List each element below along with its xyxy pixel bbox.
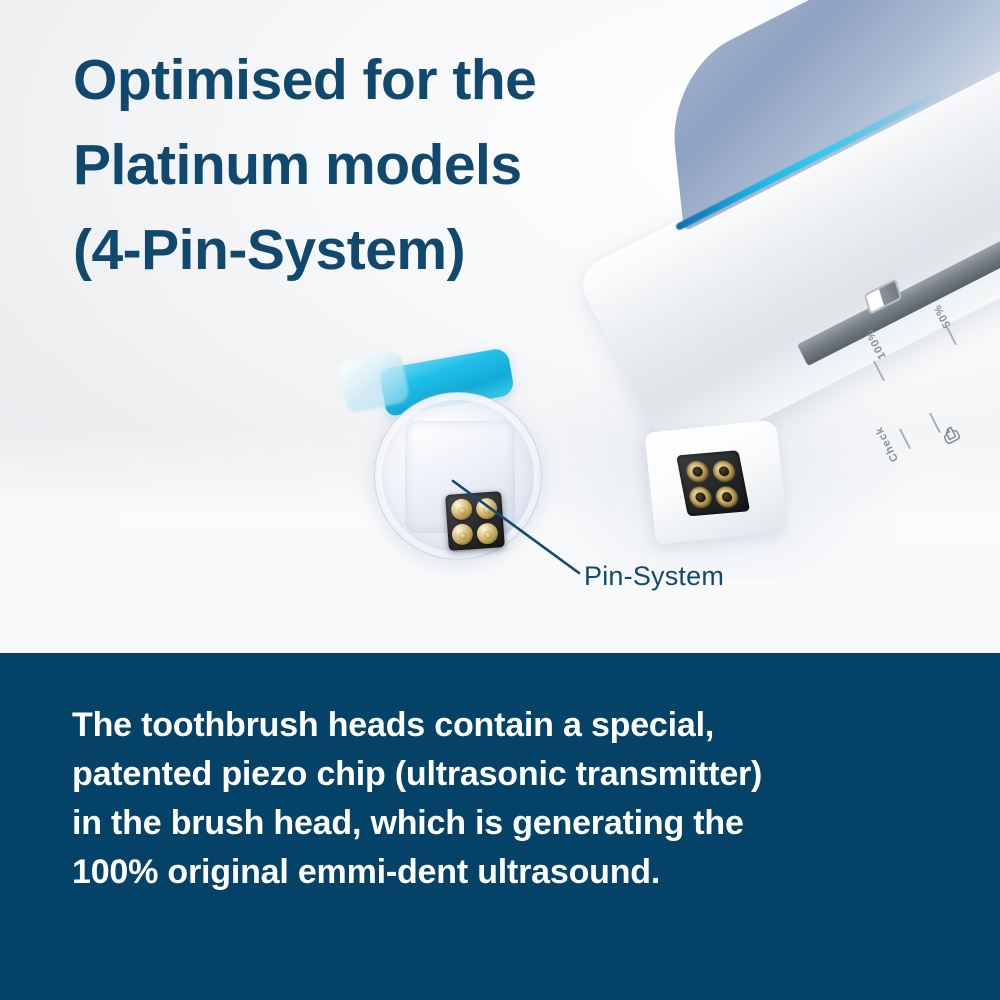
brush-head-pin — [475, 497, 497, 519]
handle-tick-check — [899, 429, 910, 449]
description-text: The toothbrush heads contain a special, … — [72, 701, 952, 897]
toothbrush-handle: 100% 50% Check ⎙ — [612, 190, 1000, 610]
handle-socket-face — [676, 450, 750, 516]
socket-hole — [687, 486, 713, 510]
brush-head-collar — [374, 392, 542, 560]
promo-graphic: Optimised for the Platinum models (4-Pin… — [0, 0, 1000, 1000]
plug-icon: ⎙ — [940, 423, 963, 448]
socket-hole — [714, 485, 740, 509]
socket-hole — [685, 460, 711, 484]
brush-head-connector — [445, 491, 505, 551]
handle-label-check: Check — [873, 424, 901, 463]
brush-head-pin — [450, 498, 472, 520]
callout-label-pin-system: Pin-System — [584, 561, 724, 591]
product-photo-panel: Optimised for the Platinum models (4-Pin… — [0, 0, 1000, 653]
brush-head-pin — [451, 523, 473, 545]
handle-tick-plug — [929, 413, 940, 433]
socket-hole — [711, 460, 737, 484]
handle-tick-50 — [945, 325, 956, 345]
handle-tick-100 — [873, 361, 884, 381]
description-band: The toothbrush heads contain a special, … — [0, 653, 1000, 1000]
handle-socket-block — [645, 419, 788, 544]
brush-head — [330, 352, 590, 582]
brush-head-pin — [476, 522, 498, 544]
